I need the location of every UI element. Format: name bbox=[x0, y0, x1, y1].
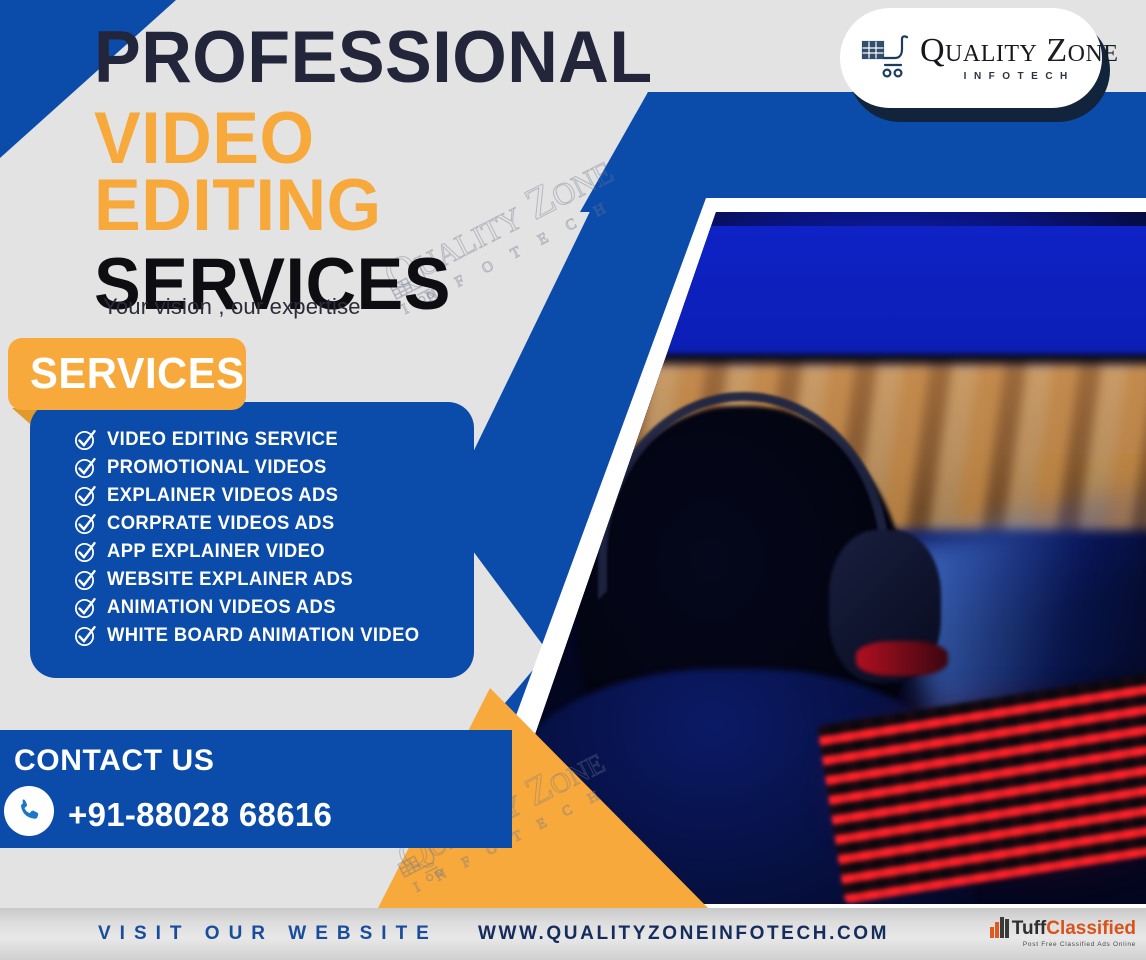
tuffclassified-tagline: Post Free Classified Ads Online bbox=[1023, 941, 1136, 948]
tuffclassified-logo-row: TuffClassified bbox=[990, 917, 1136, 938]
phone-badge bbox=[4, 786, 54, 836]
bar-chart-icon bbox=[990, 917, 1009, 938]
tuffclassified-name: TuffClassified bbox=[1012, 919, 1136, 938]
list-item: ANIMATION VIDEOS ADS bbox=[74, 596, 474, 619]
service-label: APP EXPLAINER VIDEO bbox=[107, 541, 325, 563]
list-item: EXPLAINER VIDEOS ADS bbox=[74, 484, 474, 507]
poster-canvas: Quality Zone I N F O T E C H Quality Zon… bbox=[0, 0, 1146, 960]
company-logo: Quality Zone INFOTECH bbox=[840, 8, 1102, 108]
check-circle-icon bbox=[74, 569, 96, 591]
tuffclassified-badge[interactable]: TuffClassified Post Free Classified Ads … bbox=[990, 917, 1136, 948]
list-item: VIDEO EDITING SERVICE bbox=[74, 428, 474, 451]
list-item: WHITE BOARD ANIMATION VIDEO bbox=[74, 624, 474, 647]
photo-microphone bbox=[856, 641, 948, 676]
services-list-box: VIDEO EDITING SERVICE PROMOTIONAL VIDEOS… bbox=[30, 402, 474, 678]
list-item: WEBSITE EXPLAINER ADS bbox=[74, 568, 474, 591]
headline-block: PROFESSIONAL VIDEO EDITING SERVICES bbox=[94, 24, 614, 319]
check-circle-icon bbox=[74, 513, 96, 535]
service-label: ANIMATION VIDEOS ADS bbox=[107, 597, 336, 619]
logo-subtitle: INFOTECH bbox=[920, 72, 1118, 82]
footer-bar: VISIT OUR WEBSITE WWW.QUALITYZONEINFOTEC… bbox=[0, 908, 1146, 960]
contact-title: CONTACT US bbox=[14, 744, 214, 778]
tagline: Your vision , our expertise bbox=[103, 294, 361, 320]
services-tab-label: SERVICES bbox=[30, 349, 244, 399]
tuff-name-part2: Classified bbox=[1046, 918, 1136, 939]
headline-line-2: VIDEO EDITING bbox=[94, 105, 593, 239]
logo-name-primary: Quality bbox=[920, 32, 1037, 69]
list-item: APP EXPLAINER VIDEO bbox=[74, 540, 474, 563]
service-label: EXPLAINER VIDEOS ADS bbox=[107, 485, 338, 507]
shopping-cart-icon bbox=[860, 34, 912, 82]
list-item: CORPRATE VIDEOS ADS bbox=[74, 512, 474, 535]
service-label: CORPRATE VIDEOS ADS bbox=[107, 513, 335, 535]
check-circle-icon bbox=[74, 429, 96, 451]
footer-website-url[interactable]: WWW.QUALITYZONEINFOTECH.COM bbox=[478, 923, 889, 945]
list-item: PROMOTIONAL VIDEOS bbox=[74, 456, 474, 479]
check-circle-icon bbox=[74, 485, 96, 507]
service-label: WEBSITE EXPLAINER ADS bbox=[107, 569, 353, 591]
contact-phone-number: +91-88028 68616 bbox=[68, 796, 332, 834]
headline-line-1: PROFESSIONAL bbox=[94, 24, 593, 91]
check-circle-icon bbox=[74, 457, 96, 479]
services-tab: SERVICES bbox=[8, 338, 246, 410]
service-label: PROMOTIONAL VIDEOS bbox=[107, 457, 327, 479]
check-circle-icon bbox=[74, 597, 96, 619]
service-label: VIDEO EDITING SERVICE bbox=[107, 429, 338, 451]
logo-name: Quality Zone bbox=[920, 34, 1118, 68]
logo-name-secondary: Zone bbox=[1046, 32, 1118, 69]
check-circle-icon bbox=[74, 541, 96, 563]
logo-text-block: Quality Zone INFOTECH bbox=[920, 34, 1118, 82]
phone-icon bbox=[15, 797, 43, 825]
footer-visit-label: VISIT OUR WEBSITE bbox=[98, 923, 438, 945]
tuff-name-part1: Tuff bbox=[1012, 918, 1046, 939]
service-label: WHITE BOARD ANIMATION VIDEO bbox=[107, 625, 420, 647]
check-circle-icon bbox=[74, 625, 96, 647]
